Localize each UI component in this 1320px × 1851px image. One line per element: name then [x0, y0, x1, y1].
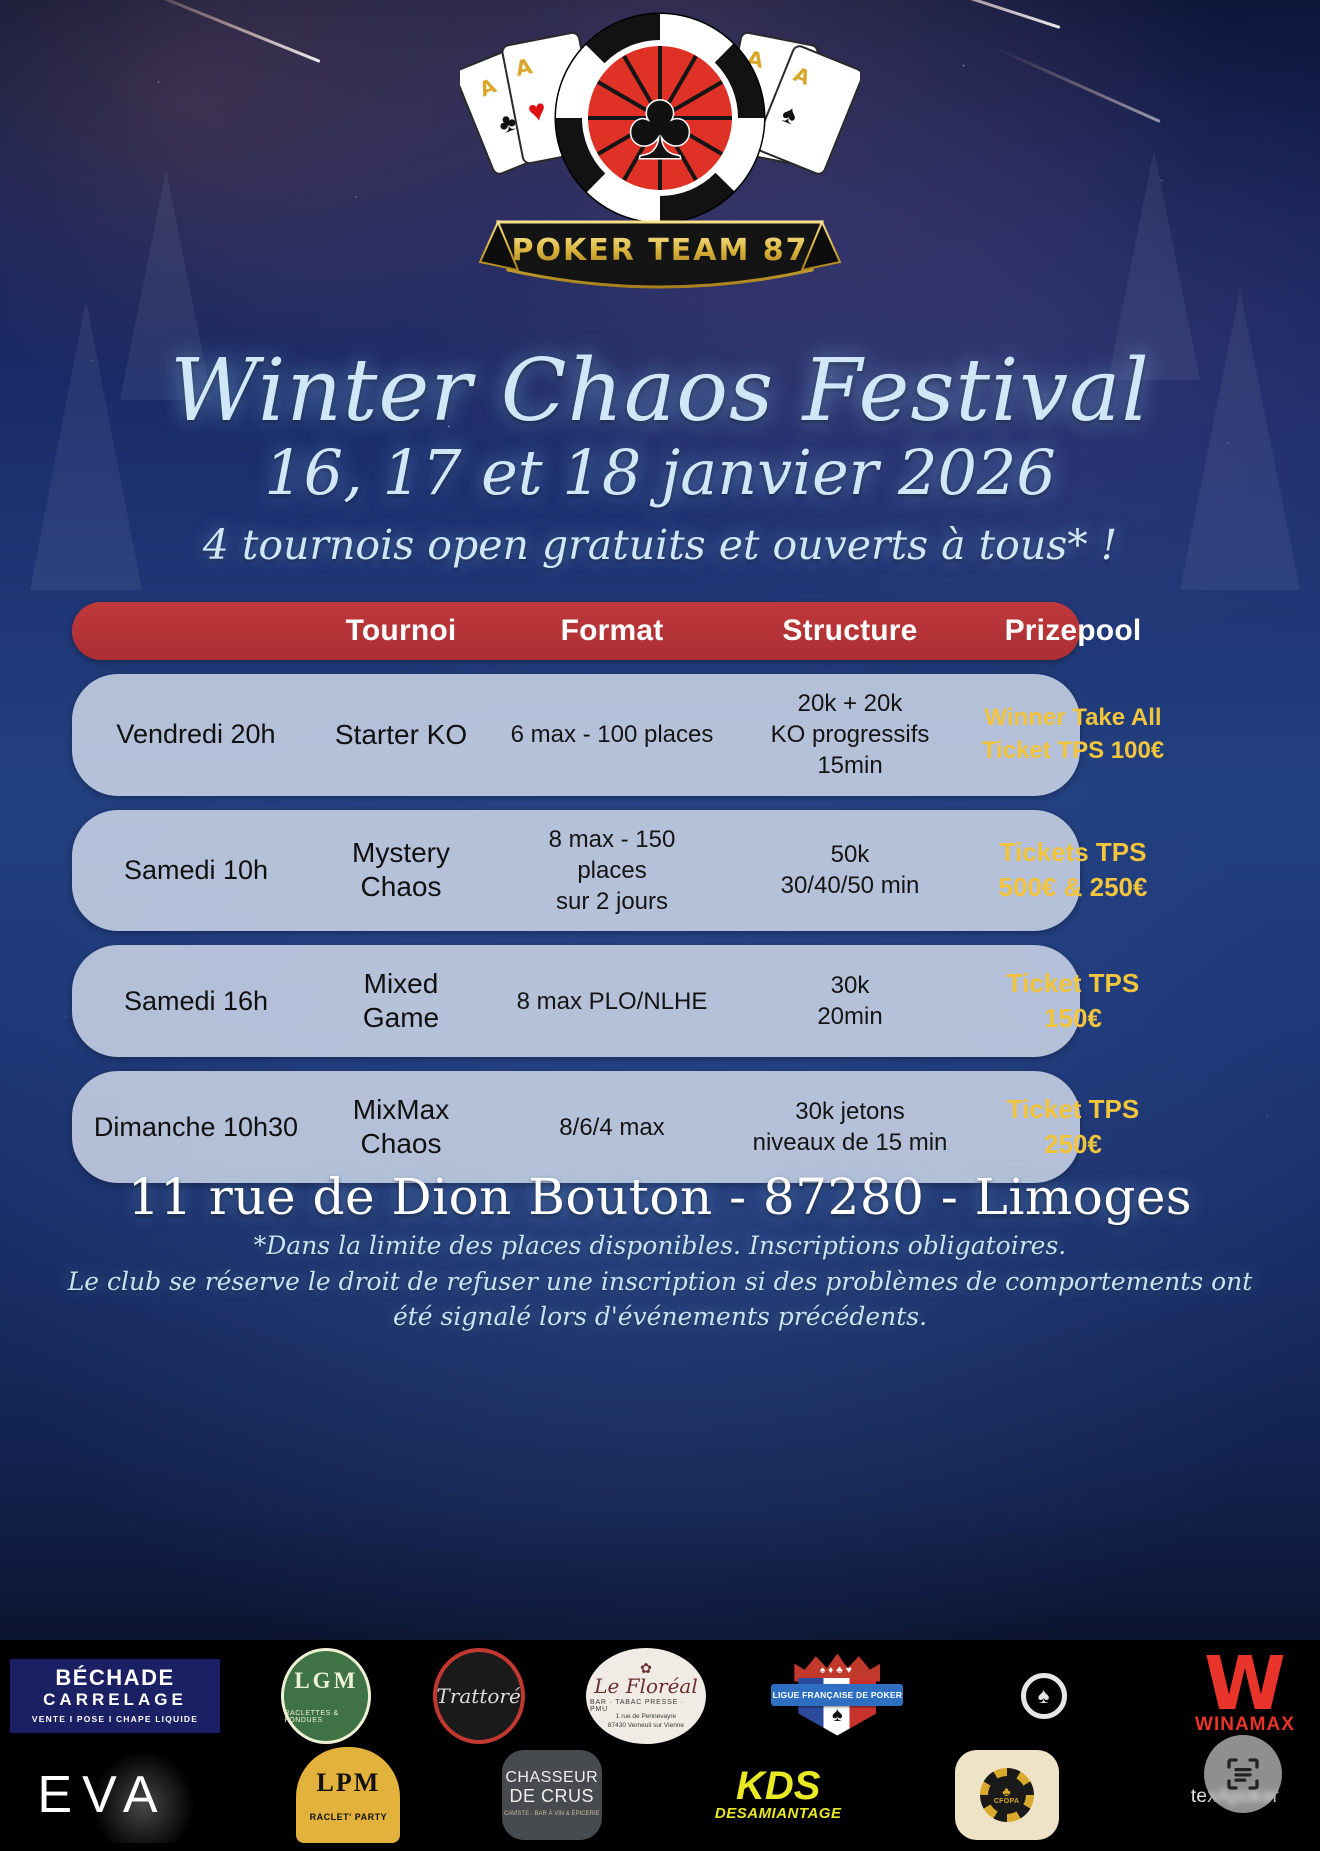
- spade-ring-icon: ♠: [1021, 1673, 1067, 1719]
- floreal-addr2: 87430 Verneuil sur Vienne: [608, 1722, 684, 1730]
- lgm-title: LGM: [294, 1668, 358, 1694]
- spade-icon: ♠: [832, 1704, 843, 1727]
- winamax-w: W: [1204, 1655, 1286, 1714]
- lfp-title: LIGUE FRANÇAISE DE POKER: [771, 1684, 903, 1706]
- row-day: Dimanche 10h30: [72, 1098, 320, 1157]
- logo-ribbon-banner: POKER TEAM 87: [480, 222, 840, 287]
- kds-title: KDS: [736, 1767, 820, 1805]
- bechade-line3: VENTE I POSE I CHAPE LIQUIDE: [32, 1714, 198, 1724]
- row-structure: 20k + 20kKO progressifs15min: [742, 674, 958, 796]
- row-tournoi: MixedGame: [320, 953, 482, 1049]
- table-header-structure: Structure: [742, 614, 958, 648]
- eva-title: EVA: [10, 1747, 195, 1843]
- table-header-row: Tournoi Format Structure Prizepool: [72, 602, 1080, 660]
- sponsors-row-2: EVA LPM RACLET' PARTY CHASSEUR DE CRUS C…: [10, 1745, 1310, 1844]
- sponsor-chasseur-de-crus: CHASSEUR DE CRUS CAVISTE · BAR À VIN & É…: [502, 1747, 602, 1843]
- row-prizepool: Ticket TPS250€: [958, 1078, 1188, 1176]
- bechade-line1: BÉCHADE: [55, 1667, 174, 1689]
- flower-icon: ✿: [640, 1661, 652, 1675]
- legal-disclaimer: *Dans la limite des places disponibles. …: [60, 1228, 1260, 1335]
- sponsor-lgm: LGM RACLETTES & FONDUES: [281, 1648, 371, 1744]
- tournament-table: Tournoi Format Structure Prizepool Vendr…: [72, 602, 1080, 1183]
- sponsor-winamax: W WINAMAX: [1180, 1648, 1310, 1744]
- row-prizepool: Tickets TPS500€ & 250€: [958, 821, 1188, 919]
- sponsor-texapoker-mark: ♠: [969, 1648, 1119, 1744]
- trattoria-title: Trattoré: [433, 1648, 525, 1744]
- scan-document-icon: [1222, 1753, 1264, 1795]
- festival-title: Winter Chaos Festival: [0, 348, 1320, 434]
- row-tournoi: MixMaxChaos: [320, 1079, 482, 1175]
- chasseur-line3: CAVISTE · BAR À VIN & ÉPICERIE: [504, 1810, 600, 1818]
- row-day: Samedi 16h: [72, 972, 320, 1031]
- scan-document-button[interactable]: [1204, 1735, 1282, 1813]
- sponsor-ligue-francaise-de-poker: ♠♦♣♥ LIGUE FRANÇAISE DE POKER ♠: [767, 1648, 907, 1744]
- sponsor-eva: EVA: [10, 1747, 195, 1843]
- table-header-prizepool: Prizepool: [958, 614, 1188, 648]
- poster-root: A ♣ A ♥ A ♦ A ♠: [0, 0, 1320, 1851]
- lpm-title: LPM: [317, 1768, 381, 1798]
- table-row: Samedi 10h MysteryChaos 8 max - 150place…: [72, 810, 1080, 932]
- winamax-name: WINAMAX: [1195, 1714, 1295, 1736]
- crown-icon: ♠♦♣♥: [794, 1654, 880, 1682]
- row-format: 8 max - 150placessur 2 jours: [482, 810, 742, 932]
- sponsor-bechade-carrelage: BÉCHADE CARRELAGE VENTE I POSE I CHAPE L…: [10, 1648, 220, 1744]
- bechade-line2: CARRELAGE: [43, 1689, 187, 1711]
- row-day: Vendredi 20h: [72, 705, 320, 764]
- table-header-tournoi: Tournoi: [320, 614, 482, 648]
- row-prizepool: Winner Take AllTicket TPS 100€: [958, 688, 1188, 781]
- title-block: Winter Chaos Festival 16, 17 et 18 janvi…: [0, 348, 1320, 569]
- row-format: 8 max PLO/NLHE: [482, 972, 742, 1031]
- sponsor-lpm: LPM RACLET' PARTY: [296, 1747, 400, 1843]
- logo-brand-text: POKER TEAM 87: [512, 233, 809, 268]
- row-format: 6 max - 100 places: [482, 705, 742, 764]
- kds-sub: DESAMIANTAGE: [715, 1805, 842, 1822]
- table-row: Vendredi 20h Starter KO 6 max - 100 plac…: [72, 674, 1080, 796]
- chasseur-line2: DE CRUS: [510, 1787, 595, 1806]
- club-icon: ♣: [1002, 1785, 1011, 1798]
- sponsor-le-floreal: ✿ Le Floréal BAR · TABAC PRESSE · PMU 1 …: [586, 1648, 706, 1744]
- poker-chip-icon: ♣ CFOPA: [980, 1768, 1034, 1822]
- poker-team-87-logo: A ♣ A ♥ A ♦ A ♠: [460, 8, 860, 320]
- row-structure: 30k20min: [742, 956, 958, 1046]
- lpm-sub: RACLET' PARTY: [310, 1812, 387, 1822]
- floreal-addr1: 1 rue de Pennevayre: [616, 1713, 676, 1721]
- sponsors-bar: BÉCHADE CARRELAGE VENTE I POSE I CHAPE L…: [0, 1640, 1320, 1851]
- festival-dates: 16, 17 et 18 janvier 2026: [0, 440, 1320, 505]
- sponsors-row-1: BÉCHADE CARRELAGE VENTE I POSE I CHAPE L…: [10, 1646, 1310, 1745]
- lgm-sub: RACLETTES & FONDUES: [284, 1710, 368, 1724]
- sponsor-trattoria: Trattoré: [433, 1648, 525, 1744]
- svg-text:♣: ♣: [629, 72, 692, 179]
- row-structure: 50k30/40/50 min: [742, 825, 958, 915]
- floreal-sub: BAR · TABAC PRESSE · PMU: [590, 1699, 702, 1713]
- venue-address: 11 rue de Dion Bouton - 87280 - Limoges: [0, 1168, 1320, 1226]
- floreal-title: Le Floréal: [594, 1675, 698, 1697]
- sponsor-kds-desamiantage: KDS DESAMIANTAGE: [703, 1747, 853, 1843]
- row-tournoi: Starter KO: [320, 704, 482, 766]
- poker-chip-icon: ♣: [556, 14, 764, 222]
- sponsor-cfopa: ♣ CFOPA: [955, 1747, 1059, 1843]
- row-structure: 30k jetonsniveaux de 15 min: [742, 1082, 958, 1172]
- table-header-format: Format: [482, 614, 742, 648]
- row-day: Samedi 10h: [72, 841, 320, 900]
- cfopa-title: CFOPA: [994, 1798, 1019, 1805]
- row-tournoi: MysteryChaos: [320, 822, 482, 918]
- chasseur-line1: CHASSEUR: [505, 1770, 598, 1787]
- table-row: Dimanche 10h30 MixMaxChaos 8/6/4 max 30k…: [72, 1071, 1080, 1183]
- row-format: 8/6/4 max: [482, 1098, 742, 1157]
- festival-tagline: 4 tournois open gratuits et ouverts à to…: [0, 521, 1320, 569]
- table-row: Samedi 16h MixedGame 8 max PLO/NLHE 30k2…: [72, 945, 1080, 1057]
- row-prizepool: Ticket TPS150€: [958, 952, 1188, 1050]
